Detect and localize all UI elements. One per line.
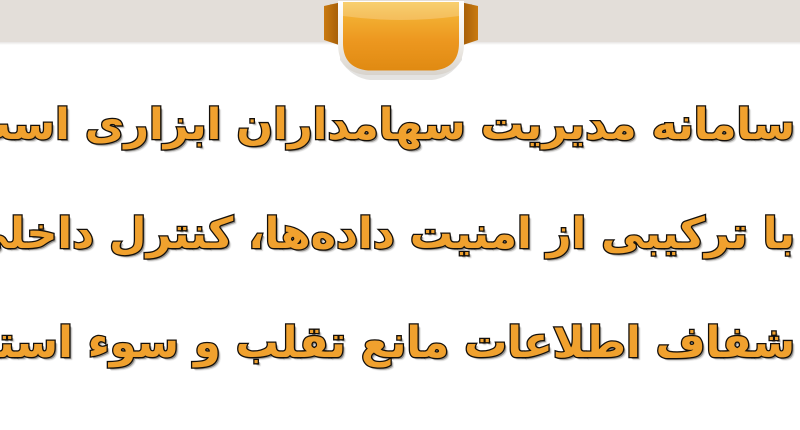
- headline-line-3: شفاف اطلاعات مانع تقلب و سوء استفاده می‌…: [5, 322, 795, 365]
- ribbon-banner-decoration: [318, 0, 484, 84]
- slide-canvas: سامانه مدیریت سهامداران ابزاری است که با…: [0, 0, 800, 430]
- headline-line-2: با ترکیبی از امنیت داده‌ها، کنترل داخلی …: [5, 213, 795, 256]
- headline-line-1: سامانه مدیریت سهامداران ابزاری است که: [5, 104, 795, 147]
- headline-text-block: سامانه مدیریت سهامداران ابزاری است که با…: [0, 78, 800, 430]
- ribbon-sheen: [343, 2, 459, 20]
